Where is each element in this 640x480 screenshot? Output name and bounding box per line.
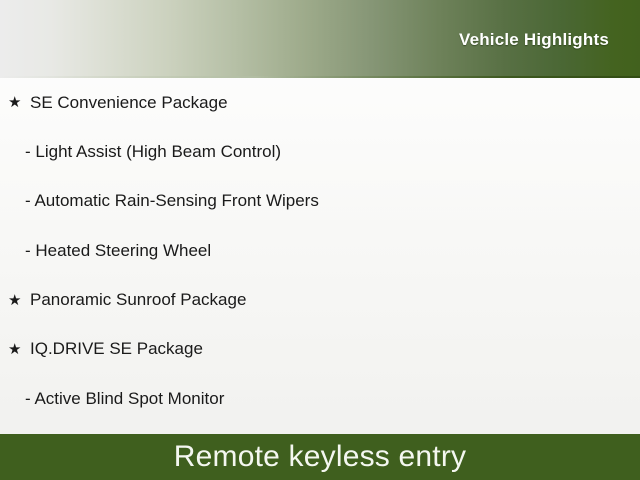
list-item: - Light Assist (High Beam Control)	[0, 127, 640, 176]
list-item-label: - Automatic Rain-Sensing Front Wipers	[25, 191, 319, 211]
slide-header: Vehicle Highlights	[0, 0, 640, 78]
page-title: Vehicle Highlights	[459, 30, 609, 50]
feature-list: ★ SE Convenience Package - Light Assist …	[0, 78, 640, 434]
list-item: - Automatic Rain-Sensing Front Wipers	[0, 177, 640, 226]
star-bullet-icon: ★	[8, 342, 30, 357]
list-item: ★ SE Convenience Package	[0, 78, 640, 127]
star-bullet-icon: ★	[8, 293, 30, 308]
list-item-label: - Active Blind Spot Monitor	[25, 389, 224, 409]
list-item-label: - Heated Steering Wheel	[25, 241, 211, 261]
list-item: - Active Blind Spot Monitor	[0, 374, 640, 423]
star-bullet-icon: ★	[8, 95, 30, 110]
list-item-label: SE Convenience Package	[30, 93, 228, 113]
footer-caption-bar: Remote keyless entry	[0, 434, 640, 480]
list-item: - Heated Steering Wheel	[0, 226, 640, 275]
list-item-label: IQ.DRIVE SE Package	[30, 339, 203, 359]
list-item-label: - Light Assist (High Beam Control)	[25, 142, 281, 162]
list-item: ★ IQ.DRIVE SE Package	[0, 325, 640, 374]
vehicle-highlights-slide: Vehicle Highlights ★ SE Convenience Pack…	[0, 0, 640, 480]
list-item-label: Panoramic Sunroof Package	[30, 290, 246, 310]
list-item: ★ Panoramic Sunroof Package	[0, 276, 640, 325]
footer-caption-text: Remote keyless entry	[174, 442, 466, 472]
